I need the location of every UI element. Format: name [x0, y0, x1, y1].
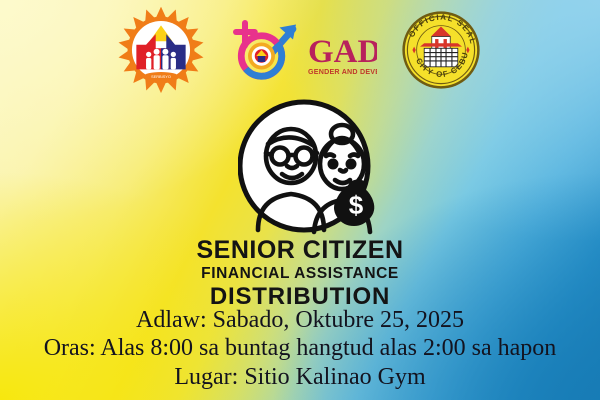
gad-logo: GAD GENDER AND DEVELOPMENT	[227, 11, 377, 89]
headline-line-2: FINANCIAL ASSISTANCE	[0, 266, 600, 282]
event-day: Adlaw: Sabado, Oktubre 25, 2025	[0, 306, 600, 334]
senior-couple-money-icon: $	[238, 98, 378, 238]
event-details: Adlaw: Sabado, Oktubre 25, 2025 Oras: Al…	[0, 306, 600, 392]
gad-subtitle: GENDER AND DEVELOPMENT	[308, 68, 377, 76]
poster-canvas: SERBISYO	[0, 0, 600, 400]
money-symbol: $	[349, 190, 364, 220]
gad-title: GAD	[308, 34, 377, 70]
event-venue: Lugar: Sitio Kalinao Gym	[0, 363, 600, 392]
logo-row: SERBISYO	[0, 4, 600, 96]
event-time: Oras: Alas 8:00 sa buntag hangtud alas 2…	[0, 334, 600, 363]
svg-text:SERBISYO: SERBISYO	[151, 74, 171, 79]
dswd-sunburst-logo: SERBISYO	[117, 6, 205, 94]
headline-block: SENIOR CITIZEN FINANCIAL ASSISTANCE DIST…	[0, 238, 600, 309]
headline-line-3: DISTRIBUTION	[0, 285, 600, 309]
headline-line-1: SENIOR CITIZEN	[0, 238, 600, 263]
cebu-city-seal: OFFICIAL SEAL CITY OF CEBU	[399, 8, 483, 92]
